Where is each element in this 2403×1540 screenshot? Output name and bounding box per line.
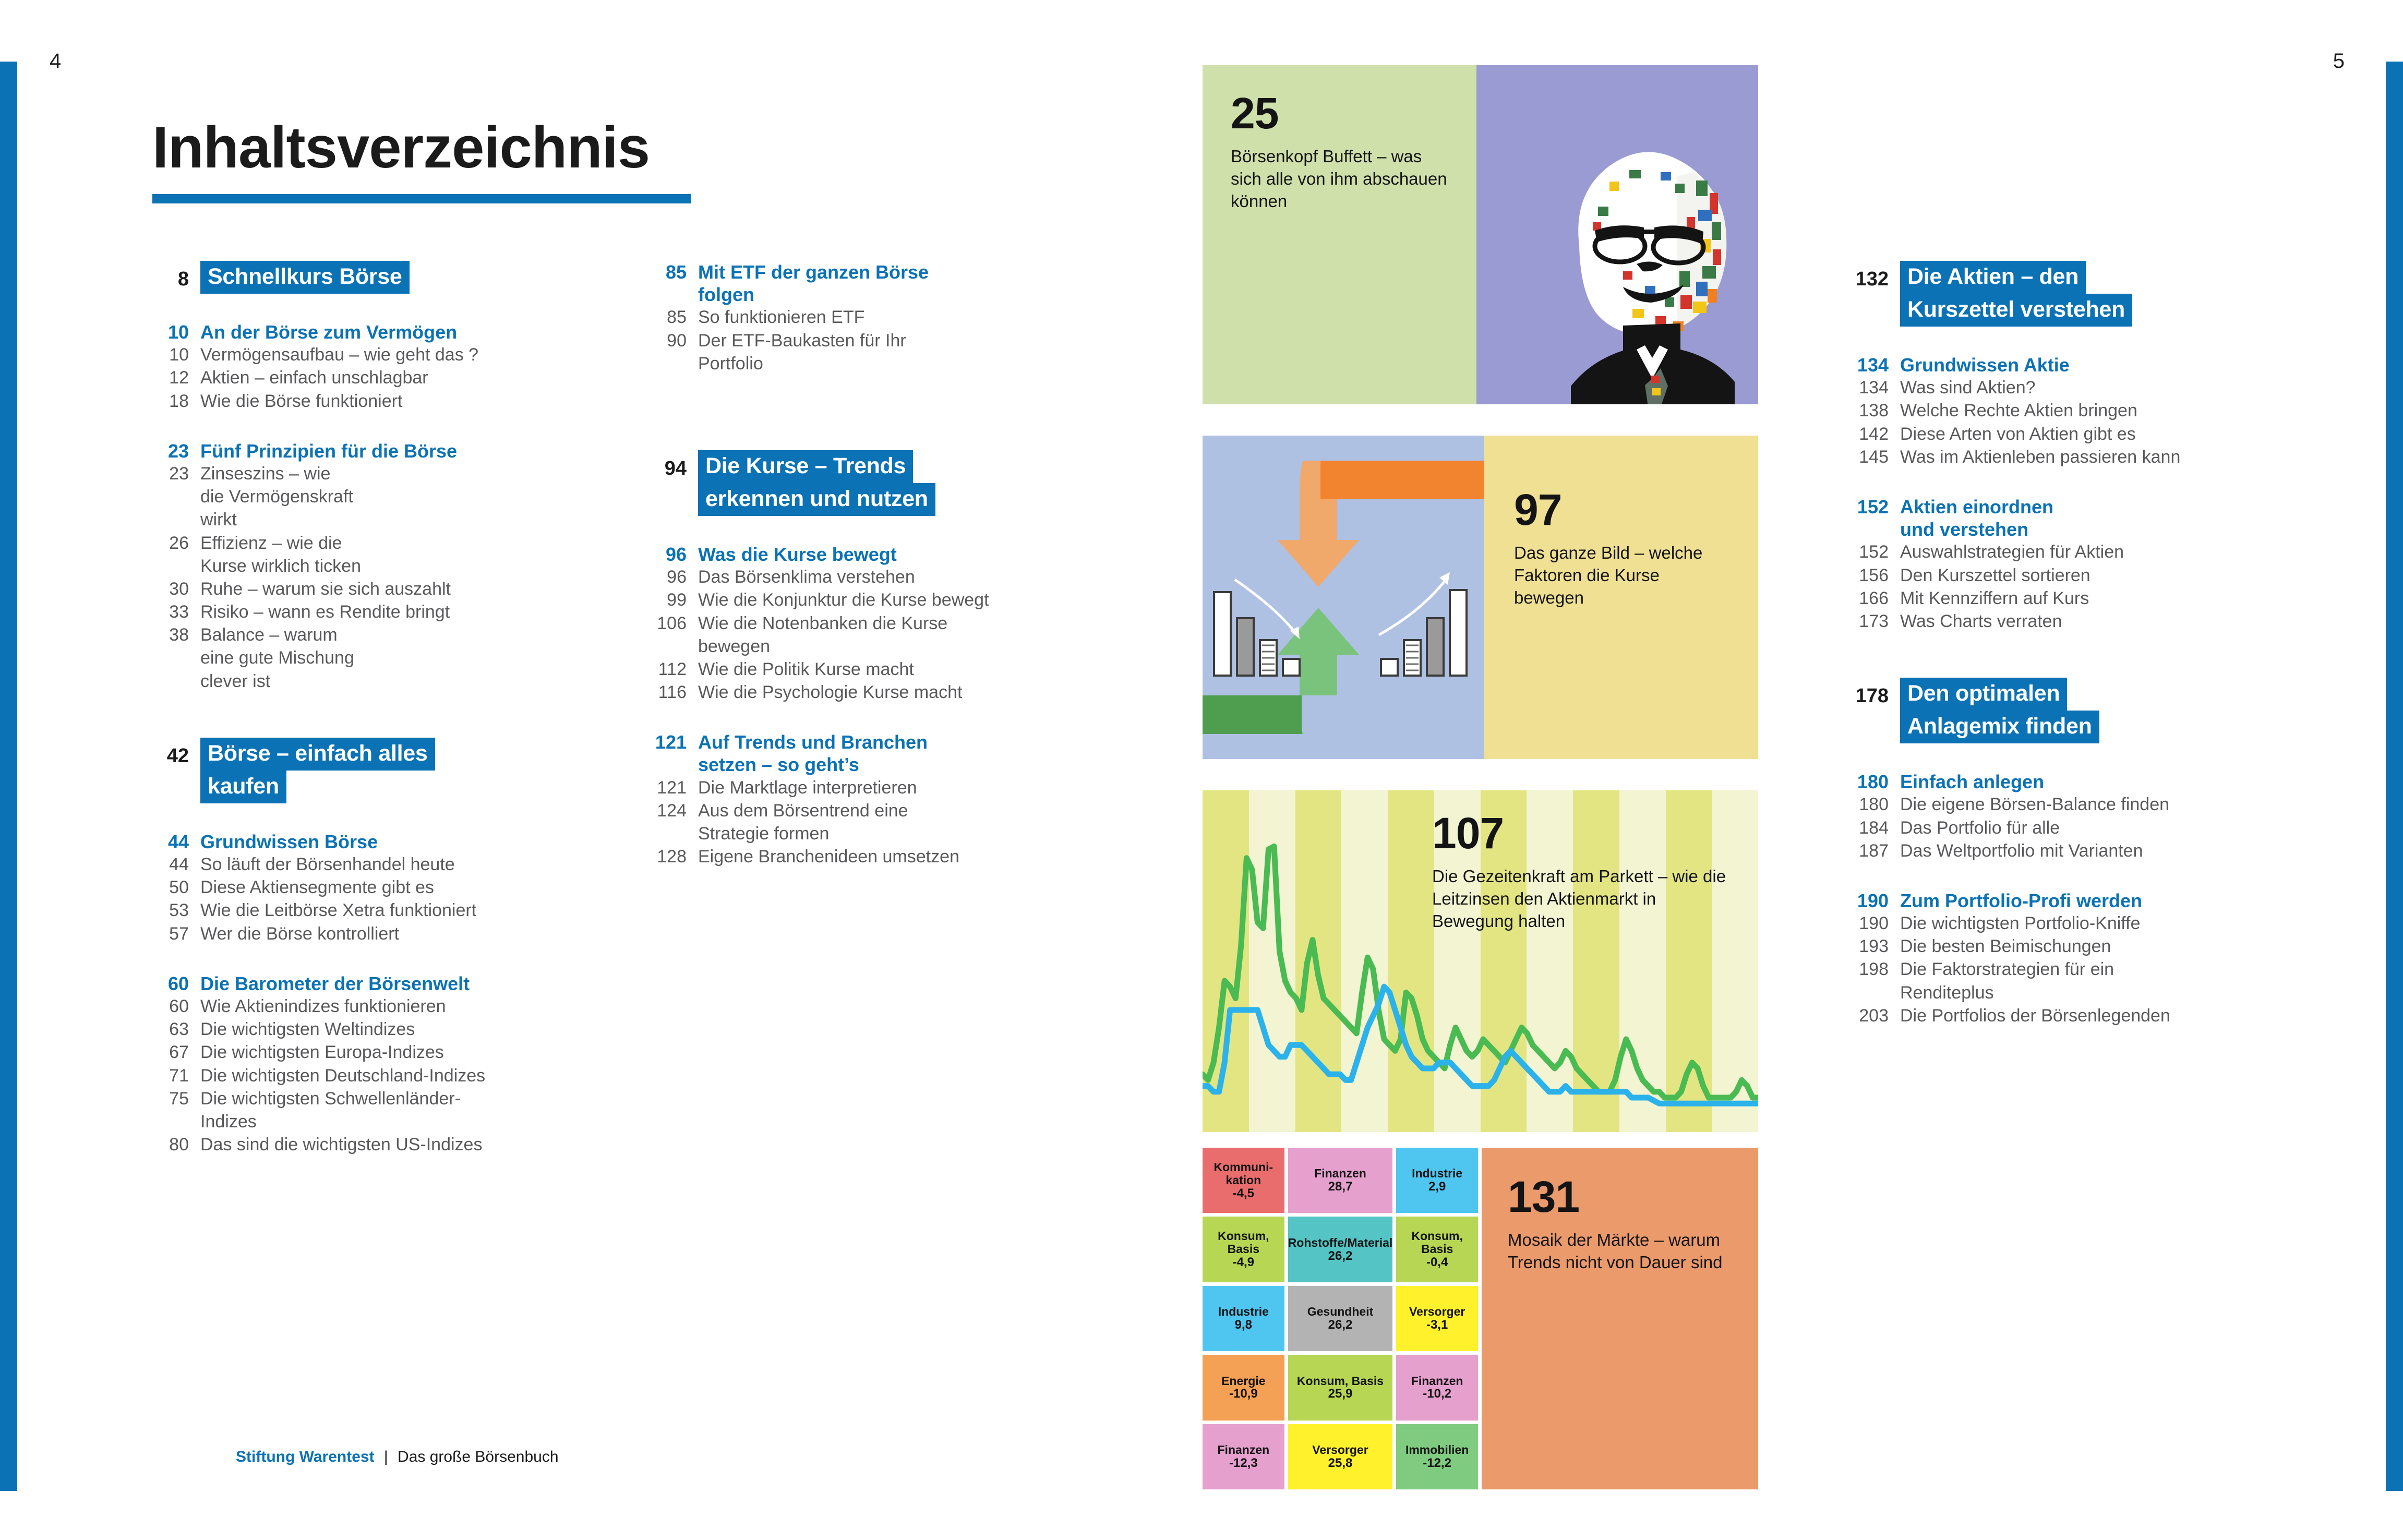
banner-lines: Den optimalen Anlagemix finden bbox=[1900, 678, 2099, 743]
treemap-tile-label: Immobilien bbox=[1405, 1443, 1469, 1457]
section-page-number: 96 bbox=[650, 543, 698, 566]
entry-page-number: 198 bbox=[1852, 958, 1900, 981]
toc-entry[interactable]: 53Wie die Leitbörse Xetra funktioniert bbox=[152, 899, 492, 922]
entry-page-number: 96 bbox=[650, 566, 698, 588]
treemap-tile-value: 9,8 bbox=[1235, 1318, 1252, 1332]
entry-title: Die wichtigsten Deutschland-Indizes bbox=[200, 1064, 485, 1087]
banner-page-number: 178 bbox=[1852, 678, 1900, 707]
toc-entry[interactable]: 124Aus dem Börsentrend eine Strategie fo… bbox=[650, 799, 1006, 845]
section-page-number: 85 bbox=[650, 261, 698, 283]
page-number-right: 5 bbox=[2333, 50, 2345, 73]
treemap-tile-value: 2,9 bbox=[1428, 1180, 1446, 1194]
treemap-tile: Energie-10,9 bbox=[1203, 1355, 1284, 1420]
toc-entry[interactable]: 90Der ETF-Baukasten für Ihr Portfolio bbox=[650, 329, 1006, 375]
entry-title: Wie die Leitbörse Xetra funktioniert bbox=[200, 899, 476, 922]
section-page-number: 190 bbox=[1852, 889, 1900, 912]
entry-title: Das sind die wichtigsten US-Indizes bbox=[200, 1133, 482, 1156]
entry-title: So funktionieren ETF bbox=[698, 306, 864, 329]
toc-entry[interactable]: 112Wie die Politik Kurse macht bbox=[650, 658, 1006, 681]
treemap-tile: Kommuni-kation-4,5 bbox=[1203, 1148, 1284, 1213]
entry-page-number: 187 bbox=[1852, 839, 1900, 862]
toc-section-heading-44[interactable]: 44 Grundwissen Börse bbox=[152, 831, 492, 853]
treemap-tile-label: Konsum, Basis bbox=[1396, 1230, 1478, 1256]
toc-entry[interactable]: 26Effizienz – wie die Kurse wirklich tic… bbox=[152, 532, 492, 577]
entry-title: Mit Kennziffern auf Kurs bbox=[1900, 587, 2089, 610]
section-page-number: 10 bbox=[152, 321, 200, 343]
entry-title: Die eigene Börsen-Balance finden bbox=[1900, 793, 2169, 816]
treemap-tile-value: -10,2 bbox=[1423, 1387, 1451, 1401]
section-title: An der Börse zum Vermögen bbox=[200, 321, 457, 343]
treemap-tile: Konsum, Basis25,9 bbox=[1288, 1355, 1393, 1420]
toc-section-heading-121[interactable]: 121 Auf Trends und Branchen setzen – so … bbox=[650, 731, 1006, 776]
entry-page-number: 67 bbox=[152, 1041, 200, 1064]
entry-page-number: 60 bbox=[152, 995, 200, 1018]
treemap-tile: Immobilien-12,2 bbox=[1396, 1424, 1478, 1489]
entry-page-number: 80 bbox=[152, 1133, 200, 1156]
banner-line: Schnellkurs Börse bbox=[200, 261, 410, 294]
entry-title: Wie die Politik Kurse macht bbox=[698, 658, 914, 681]
section-title: Zum Portfolio-Profi werden bbox=[1900, 889, 2142, 912]
treemap-tile: Konsum, Basis-4,9 bbox=[1203, 1217, 1284, 1282]
toc-entry[interactable]: 12Aktien – einfach unschlagbar bbox=[152, 366, 492, 389]
entry-title: Die wichtigsten Weltindizes bbox=[200, 1018, 415, 1041]
toc-banner-die-kurse-trends[interactable]: 94 Die Kurse – Trends erkennen und nutze… bbox=[650, 450, 1006, 516]
entry-title: Zinseszins – wie die Vermögenskraft wirk… bbox=[200, 462, 357, 532]
toc-entry[interactable]: 99Wie die Konjunktur die Kurse bewegt bbox=[650, 588, 1006, 611]
toc-entry[interactable]: 44So läuft der Börsenhandel heute bbox=[152, 853, 492, 876]
treemap-tile: Finanzen-12,3 bbox=[1203, 1424, 1284, 1489]
toc-banner-boerse-einfach-alles-kaufen[interactable]: 42 Börse – einfach alles kaufen bbox=[152, 738, 492, 803]
banner-lines: Schnellkurs Börse bbox=[200, 261, 410, 294]
treemap-tile-value: 26,2 bbox=[1328, 1249, 1353, 1263]
treemap-tile-label: Gesundheit bbox=[1307, 1305, 1374, 1318]
section-title: Grundwissen Börse bbox=[200, 831, 378, 853]
section-page-number: 180 bbox=[1852, 771, 1900, 793]
treemap-tile-label: Finanzen bbox=[1218, 1443, 1270, 1457]
toc-section-heading-23[interactable]: 23 Fünf Prinzipien für die Börse bbox=[152, 440, 492, 462]
teaser-caption: Die Gezeitenkraft am Parkett – wie die L… bbox=[1432, 865, 1735, 933]
treemap-tile-value: -4,9 bbox=[1233, 1256, 1254, 1269]
toc-section-heading-60[interactable]: 60 Die Barometer der Börsenwelt bbox=[152, 972, 492, 995]
entry-page-number: 134 bbox=[1852, 376, 1900, 399]
page-title: Inhaltsverzeichnis bbox=[152, 114, 650, 181]
toc-section-heading-96[interactable]: 96 Was die Kurse bewegt bbox=[650, 543, 1006, 566]
treemap-tile-value: -10,9 bbox=[1229, 1387, 1258, 1401]
banner-line: erkennen und nutzen bbox=[698, 483, 935, 516]
entry-page-number: 106 bbox=[650, 612, 698, 635]
toc-entry[interactable]: 198Die Faktorstrategien für ein Renditep… bbox=[1852, 958, 2180, 1004]
entry-title: Die wichtigsten Portfolio-Kniffe bbox=[1900, 912, 2140, 935]
toc-entry[interactable]: 121Die Marktlage interpretieren bbox=[650, 776, 1006, 799]
entry-page-number: 63 bbox=[152, 1018, 200, 1041]
banner-line: Anlagemix finden bbox=[1900, 711, 2099, 743]
banner-page-number: 132 bbox=[1852, 261, 1900, 291]
banner-page-number: 94 bbox=[650, 450, 698, 480]
entry-title: Ruhe – warum sie sich auszahlt bbox=[200, 577, 451, 600]
teaser-page-number: 25 bbox=[1231, 91, 1455, 135]
treemap-tile-label: Industrie bbox=[1218, 1305, 1269, 1318]
entry-page-number: 128 bbox=[650, 845, 698, 868]
toc-entry[interactable]: 57Wer die Börse kontrolliert bbox=[152, 922, 492, 945]
entry-title: Die Marktlage interpretieren bbox=[698, 776, 917, 799]
market-forces-illustration bbox=[1203, 436, 1484, 759]
toc-entry[interactable]: 10Vermögensaufbau – wie geht das ? bbox=[152, 343, 492, 366]
treemap-tile: Versorger-3,1 bbox=[1396, 1286, 1478, 1351]
entry-title: Die Portfolios der Börsenlegenden bbox=[1900, 1004, 2170, 1027]
banner-page-number: 42 bbox=[152, 738, 200, 767]
entry-page-number: 71 bbox=[152, 1064, 200, 1087]
entry-title: Den Kurszettel sortieren bbox=[1900, 564, 2090, 587]
treemap-tile: Industrie2,9 bbox=[1396, 1148, 1478, 1213]
treemap-tile-label: Rohstoffe/Material bbox=[1288, 1236, 1393, 1249]
banner-line: Börse – einfach alles bbox=[200, 738, 435, 771]
section-page-number: 152 bbox=[1852, 496, 1900, 518]
entry-page-number: 166 bbox=[1852, 587, 1900, 610]
toc-entry[interactable]: 180Die eigene Börsen-Balance finden bbox=[1852, 793, 2180, 816]
section-title: Mit ETF der ganzen Börse folgen bbox=[698, 261, 943, 306]
section-page-number: 134 bbox=[1852, 354, 1900, 376]
toc-column-1: 8 Schnellkurs Börse 10 An der Börse zum … bbox=[152, 261, 492, 1156]
toc-entry[interactable]: 203Die Portfolios der Börsenlegenden bbox=[1852, 1004, 2180, 1027]
right-edge-bar bbox=[2386, 62, 2403, 1491]
treemap-tile: Finanzen28,7 bbox=[1288, 1148, 1393, 1213]
section-title: Die Barometer der Börsenwelt bbox=[200, 972, 470, 995]
banner-line: Die Kurse – Trends bbox=[698, 450, 913, 483]
entry-page-number: 112 bbox=[650, 658, 698, 681]
banner-lines: Börse – einfach alles kaufen bbox=[200, 738, 435, 803]
toc-section-heading-134[interactable]: 134 Grundwissen Aktie bbox=[1852, 354, 2180, 376]
entry-title: Die wichtigsten Europa-Indizes bbox=[200, 1041, 444, 1064]
buffett-portrait-icon bbox=[1521, 115, 1745, 404]
treemap-tile-value: -12,3 bbox=[1229, 1457, 1258, 1470]
entry-page-number: 44 bbox=[152, 853, 200, 876]
entry-page-number: 33 bbox=[152, 600, 200, 623]
treemap-tile-label: Konsum, Basis bbox=[1203, 1230, 1284, 1256]
entry-title: Eigene Branchenideen umsetzen bbox=[698, 845, 959, 868]
toc-entry[interactable]: 80Das sind die wichtigsten US-Indizes bbox=[152, 1133, 492, 1156]
toc-entry[interactable]: 184Das Portfolio für alle bbox=[1852, 816, 2180, 839]
treemap-tile-label: Versorger bbox=[1409, 1305, 1465, 1318]
treemap-tile-value: -0,4 bbox=[1426, 1256, 1448, 1269]
treemap-tile: Konsum, Basis-0,4 bbox=[1396, 1217, 1478, 1282]
treemap-tile-label: kation bbox=[1225, 1174, 1261, 1187]
entry-title: Risiko – wann es Rendite bringt bbox=[200, 600, 450, 623]
toc-entry[interactable]: 173Was Charts verraten bbox=[1852, 610, 2180, 633]
entry-title: Das Börsenklima verstehen bbox=[698, 566, 915, 588]
entry-page-number: 152 bbox=[1852, 540, 1900, 563]
entry-title: Auswahlstrategien für Aktien bbox=[1900, 540, 2124, 563]
toc-entry[interactable]: 193Die besten Beimischungen bbox=[1852, 935, 2180, 958]
teaser-107-text: 107 Die Gezeitenkraft am Parkett – wie d… bbox=[1432, 811, 1745, 933]
toc-entry[interactable]: 23Zinseszins – wie die Vermögenskraft wi… bbox=[152, 462, 492, 532]
entry-title: Wie Aktienindizes funktionieren bbox=[200, 995, 446, 1018]
treemap-tile: Versorger25,8 bbox=[1288, 1424, 1393, 1489]
toc-section-heading-152[interactable]: 152 Aktien einordnen und verstehen bbox=[1852, 496, 2180, 540]
toc-entry[interactable]: 142Diese Arten von Aktien gibt es bbox=[1852, 423, 2180, 446]
toc-banner-den-optimalen-anlagemix[interactable]: 178 Den optimalen Anlagemix finden bbox=[1852, 678, 2180, 743]
entry-page-number: 57 bbox=[152, 922, 200, 945]
entry-page-number: 121 bbox=[650, 776, 698, 799]
entry-title: Wer die Börse kontrolliert bbox=[200, 922, 399, 945]
toc-entry[interactable]: 128Eigene Branchenideen umsetzen bbox=[650, 845, 1006, 868]
treemap-tile-value: 26,2 bbox=[1328, 1318, 1353, 1332]
toc-entry[interactable]: 116Wie die Psychologie Kurse macht bbox=[650, 681, 1006, 704]
entry-title: Aktien – einfach unschlagbar bbox=[200, 366, 428, 389]
toc-section-heading-180[interactable]: 180 Einfach anlegen bbox=[1852, 771, 2180, 793]
toc-entry[interactable]: 106Wie die Notenbanken die Kurse bewegen bbox=[650, 612, 1006, 658]
toc-entry[interactable]: 75Die wichtigsten Schwellenländer-Indize… bbox=[152, 1087, 492, 1133]
left-edge-bar bbox=[0, 62, 17, 1491]
entry-title: Diese Aktiensegmente gibt es bbox=[200, 876, 434, 899]
entry-title: Das Portfolio für alle bbox=[1900, 816, 2060, 839]
entry-page-number: 145 bbox=[1852, 446, 1900, 468]
toc-entry[interactable]: 63Die wichtigsten Weltindizes bbox=[152, 1018, 492, 1041]
title-underline bbox=[152, 194, 691, 203]
toc-entry[interactable]: 145Was im Aktienleben passieren kann bbox=[1852, 446, 2180, 468]
treemap-tile-label: Finanzen bbox=[1314, 1167, 1366, 1180]
treemap-tile: Finanzen-10,2 bbox=[1396, 1355, 1478, 1420]
banner-line: Die Aktien – den bbox=[1900, 261, 2086, 294]
toc-column-3: 132 Die Aktien – den Kurszettel verstehe… bbox=[1852, 261, 2180, 1027]
section-title: Was die Kurse bewegt bbox=[698, 543, 897, 566]
treemap-tile-value: -3,1 bbox=[1426, 1318, 1448, 1332]
entry-title: Was im Aktienleben passieren kann bbox=[1900, 446, 2180, 468]
teaser-panel-25[interactable]: 25 Börsenkopf Buffett – was sich alle vo… bbox=[1203, 65, 1758, 404]
toc-entry[interactable]: 38Balance – warum eine gute Mischung cle… bbox=[152, 623, 492, 693]
teaser-page-number: 107 bbox=[1432, 811, 1745, 855]
entry-page-number: 26 bbox=[152, 532, 200, 555]
entry-page-number: 142 bbox=[1852, 423, 1900, 446]
footer: Stiftung Warentest | Das große Börsenbuc… bbox=[236, 1448, 559, 1466]
entry-page-number: 203 bbox=[1852, 1004, 1900, 1027]
toc-entry[interactable]: 96Das Börsenklima verstehen bbox=[650, 566, 1006, 588]
toc-banner-schnellkurs-boerse[interactable]: 8 Schnellkurs Börse bbox=[152, 261, 492, 294]
entry-title: Was Charts verraten bbox=[1900, 610, 2062, 633]
entry-title: Wie die Börse funktioniert bbox=[200, 390, 402, 413]
teaser-caption: Das ganze Bild – welche Faktoren die Kur… bbox=[1514, 542, 1733, 609]
treemap-tile: Industrie9,8 bbox=[1203, 1286, 1284, 1351]
entry-title: Der ETF-Baukasten für Ihr Portfolio bbox=[698, 329, 917, 375]
entry-page-number: 18 bbox=[152, 390, 200, 413]
treemap-tile-label: Konsum, Basis bbox=[1297, 1375, 1384, 1388]
teaser-97-text: 97 Das ganze Bild – welche Faktoren die … bbox=[1514, 488, 1733, 609]
entry-page-number: 12 bbox=[152, 366, 200, 389]
section-title: Auf Trends und Branchen setzen – so geht… bbox=[698, 731, 954, 776]
section-title: Aktien einordnen und verstehen bbox=[1900, 496, 2072, 540]
toc-entry[interactable]: 134Was sind Aktien? bbox=[1852, 376, 2180, 399]
entry-page-number: 30 bbox=[152, 577, 200, 600]
entry-page-number: 156 bbox=[1852, 564, 1900, 587]
section-title: Grundwissen Aktie bbox=[1900, 354, 2070, 376]
toc-entry[interactable]: 71Die wichtigsten Deutschland-Indizes bbox=[152, 1064, 492, 1087]
entry-title: Die wichtigsten Schwellenländer-Indizes bbox=[200, 1087, 492, 1133]
entry-title: Welche Rechte Aktien bringen bbox=[1900, 399, 2137, 422]
entry-title: Wie die Psychologie Kurse macht bbox=[698, 681, 962, 704]
teaser-25-text: 25 Börsenkopf Buffett – was sich alle vo… bbox=[1231, 91, 1455, 213]
footer-brand: Stiftung Warentest bbox=[236, 1448, 375, 1465]
entry-title: Die Faktorstrategien für ein Renditeplus bbox=[1900, 958, 2130, 1004]
entry-page-number: 85 bbox=[650, 306, 698, 329]
toc-entry[interactable]: 138Welche Rechte Aktien bringen bbox=[1852, 399, 2180, 422]
footer-book-title: Das große Börsenbuch bbox=[398, 1448, 559, 1465]
treemap-tile-label: Industrie bbox=[1412, 1167, 1462, 1180]
toc-entry[interactable]: 85So funktionieren ETF bbox=[650, 306, 1006, 329]
section-title: Einfach anlegen bbox=[1900, 771, 2044, 793]
teaser-panel-107[interactable]: 107 Die Gezeitenkraft am Parkett – wie d… bbox=[1203, 790, 1758, 1132]
entry-page-number: 124 bbox=[650, 799, 698, 822]
entry-page-number: 75 bbox=[152, 1087, 200, 1110]
toc-entry[interactable]: 33Risiko – wann es Rendite bringt bbox=[152, 600, 492, 623]
treemap-tile-label: Kommuni- bbox=[1213, 1161, 1273, 1174]
toc-section-heading-190[interactable]: 190 Zum Portfolio-Profi werden bbox=[1852, 889, 2180, 912]
entry-title: Diese Arten von Aktien gibt es bbox=[1900, 423, 2136, 446]
section-title: Fünf Prinzipien für die Börse bbox=[200, 440, 457, 462]
entry-title: Das Weltportfolio mit Varianten bbox=[1900, 839, 2143, 862]
treemap-tile-label: Finanzen bbox=[1411, 1375, 1463, 1388]
treemap-tile-value: 28,7 bbox=[1328, 1180, 1353, 1194]
entry-page-number: 180 bbox=[1852, 793, 1900, 816]
entry-title: Wie die Konjunktur die Kurse bewegt bbox=[698, 588, 989, 611]
teaser-page-number: 97 bbox=[1514, 488, 1733, 532]
teaser-page-number: 131 bbox=[1508, 1175, 1737, 1219]
treemap-tile: Gesundheit26,2 bbox=[1288, 1286, 1393, 1351]
section-page-number: 44 bbox=[152, 831, 200, 853]
entry-title: Aus dem Börsentrend eine Strategie forme… bbox=[698, 799, 917, 845]
entry-page-number: 53 bbox=[152, 899, 200, 922]
toc-entry[interactable]: 67Die wichtigsten Europa-Indizes bbox=[152, 1041, 492, 1064]
section-page-number: 60 bbox=[152, 972, 200, 995]
sector-treemap: Kommuni-kation-4,5Finanzen28,7Industrie2… bbox=[1203, 1148, 1478, 1489]
entry-page-number: 99 bbox=[650, 588, 698, 611]
toc-entry[interactable]: 166Mit Kennziffern auf Kurs bbox=[1852, 587, 2180, 610]
treemap-tile: Rohstoffe/Material26,2 bbox=[1288, 1217, 1393, 1282]
entry-page-number: 38 bbox=[152, 623, 200, 646]
entry-page-number: 193 bbox=[1852, 935, 1900, 958]
footer-separator: | bbox=[379, 1448, 393, 1465]
toc-entry[interactable]: 187Das Weltportfolio mit Varianten bbox=[1852, 839, 2180, 862]
treemap-tile-label: Energie bbox=[1221, 1375, 1265, 1388]
banner-line: Den optimalen bbox=[1900, 678, 2067, 711]
entry-page-number: 173 bbox=[1852, 610, 1900, 633]
entry-title: Balance – warum eine gute Mischung cleve… bbox=[200, 623, 373, 693]
toc-entry[interactable]: 30Ruhe – warum sie sich auszahlt bbox=[152, 577, 492, 600]
entry-page-number: 190 bbox=[1852, 912, 1900, 935]
toc-column-2: 85 Mit ETF der ganzen Börse folgen 85So … bbox=[650, 261, 1006, 868]
teaser-caption: Mosaik der Märkte – warum Trends nicht v… bbox=[1508, 1229, 1737, 1274]
banner-lines: Die Kurse – Trends erkennen und nutzen bbox=[698, 450, 935, 516]
treemap-tile-label: Versorger bbox=[1312, 1443, 1368, 1457]
banner-page-number: 8 bbox=[152, 261, 200, 291]
toc-entry[interactable]: 156Den Kurszettel sortieren bbox=[1852, 564, 2180, 587]
toc-section-heading-85[interactable]: 85 Mit ETF der ganzen Börse folgen bbox=[650, 261, 1006, 306]
entry-page-number: 50 bbox=[152, 876, 200, 899]
banner-lines: Die Aktien – den Kurszettel verstehen bbox=[1900, 261, 2132, 327]
entry-title: Vermögensaufbau – wie geht das ? bbox=[200, 343, 478, 366]
toc-section-heading-10[interactable]: 10 An der Börse zum Vermögen bbox=[152, 321, 492, 343]
toc-entry[interactable]: 190Die wichtigsten Portfolio-Kniffe bbox=[1852, 912, 2180, 935]
banner-line: Kurszettel verstehen bbox=[1900, 294, 2132, 327]
treemap-tile-value: -12,2 bbox=[1423, 1457, 1451, 1470]
entry-page-number: 184 bbox=[1852, 816, 1900, 839]
treemap-tile-value: 25,9 bbox=[1328, 1387, 1353, 1401]
toc-entry[interactable]: 152Auswahlstrategien für Aktien bbox=[1852, 540, 2180, 563]
section-page-number: 23 bbox=[152, 440, 200, 462]
toc-entry[interactable]: 18Wie die Börse funktioniert bbox=[152, 390, 492, 413]
entry-title: Wie die Notenbanken die Kurse bewegen bbox=[698, 612, 1006, 658]
toc-entry[interactable]: 50Diese Aktiensegmente gibt es bbox=[152, 876, 492, 899]
teaser-panel-131[interactable]: Kommuni-kation-4,5Finanzen28,7Industrie2… bbox=[1203, 1148, 1758, 1489]
treemap-tile-value: -4,5 bbox=[1233, 1187, 1254, 1200]
treemap-tile-value: 25,8 bbox=[1328, 1457, 1353, 1470]
teaser-panel-97[interactable]: 97 Das ganze Bild – welche Faktoren die … bbox=[1203, 436, 1758, 759]
teaser-131-text: 131 Mosaik der Märkte – warum Trends nic… bbox=[1508, 1175, 1737, 1274]
entry-page-number: 10 bbox=[152, 343, 200, 366]
entry-title: Effizienz – wie die Kurse wirklich ticke… bbox=[200, 532, 373, 577]
entry-title: Die besten Beimischungen bbox=[1900, 935, 2111, 958]
toc-banner-die-aktien-kurszettel[interactable]: 132 Die Aktien – den Kurszettel verstehe… bbox=[1852, 261, 2180, 327]
entry-page-number: 116 bbox=[650, 681, 698, 704]
teaser-caption: Börsenkopf Buffett – was sich alle von i… bbox=[1231, 146, 1455, 213]
entry-page-number: 90 bbox=[650, 329, 698, 352]
section-page-number: 121 bbox=[650, 731, 698, 753]
toc-entry[interactable]: 60Wie Aktienindizes funktionieren bbox=[152, 995, 492, 1018]
entry-title: So läuft der Börsenhandel heute bbox=[200, 853, 455, 876]
entry-title: Was sind Aktien? bbox=[1900, 376, 2036, 399]
entry-page-number: 138 bbox=[1852, 399, 1900, 422]
entry-page-number: 23 bbox=[152, 462, 200, 485]
banner-line: kaufen bbox=[200, 771, 286, 803]
page-number-left: 4 bbox=[50, 50, 61, 73]
